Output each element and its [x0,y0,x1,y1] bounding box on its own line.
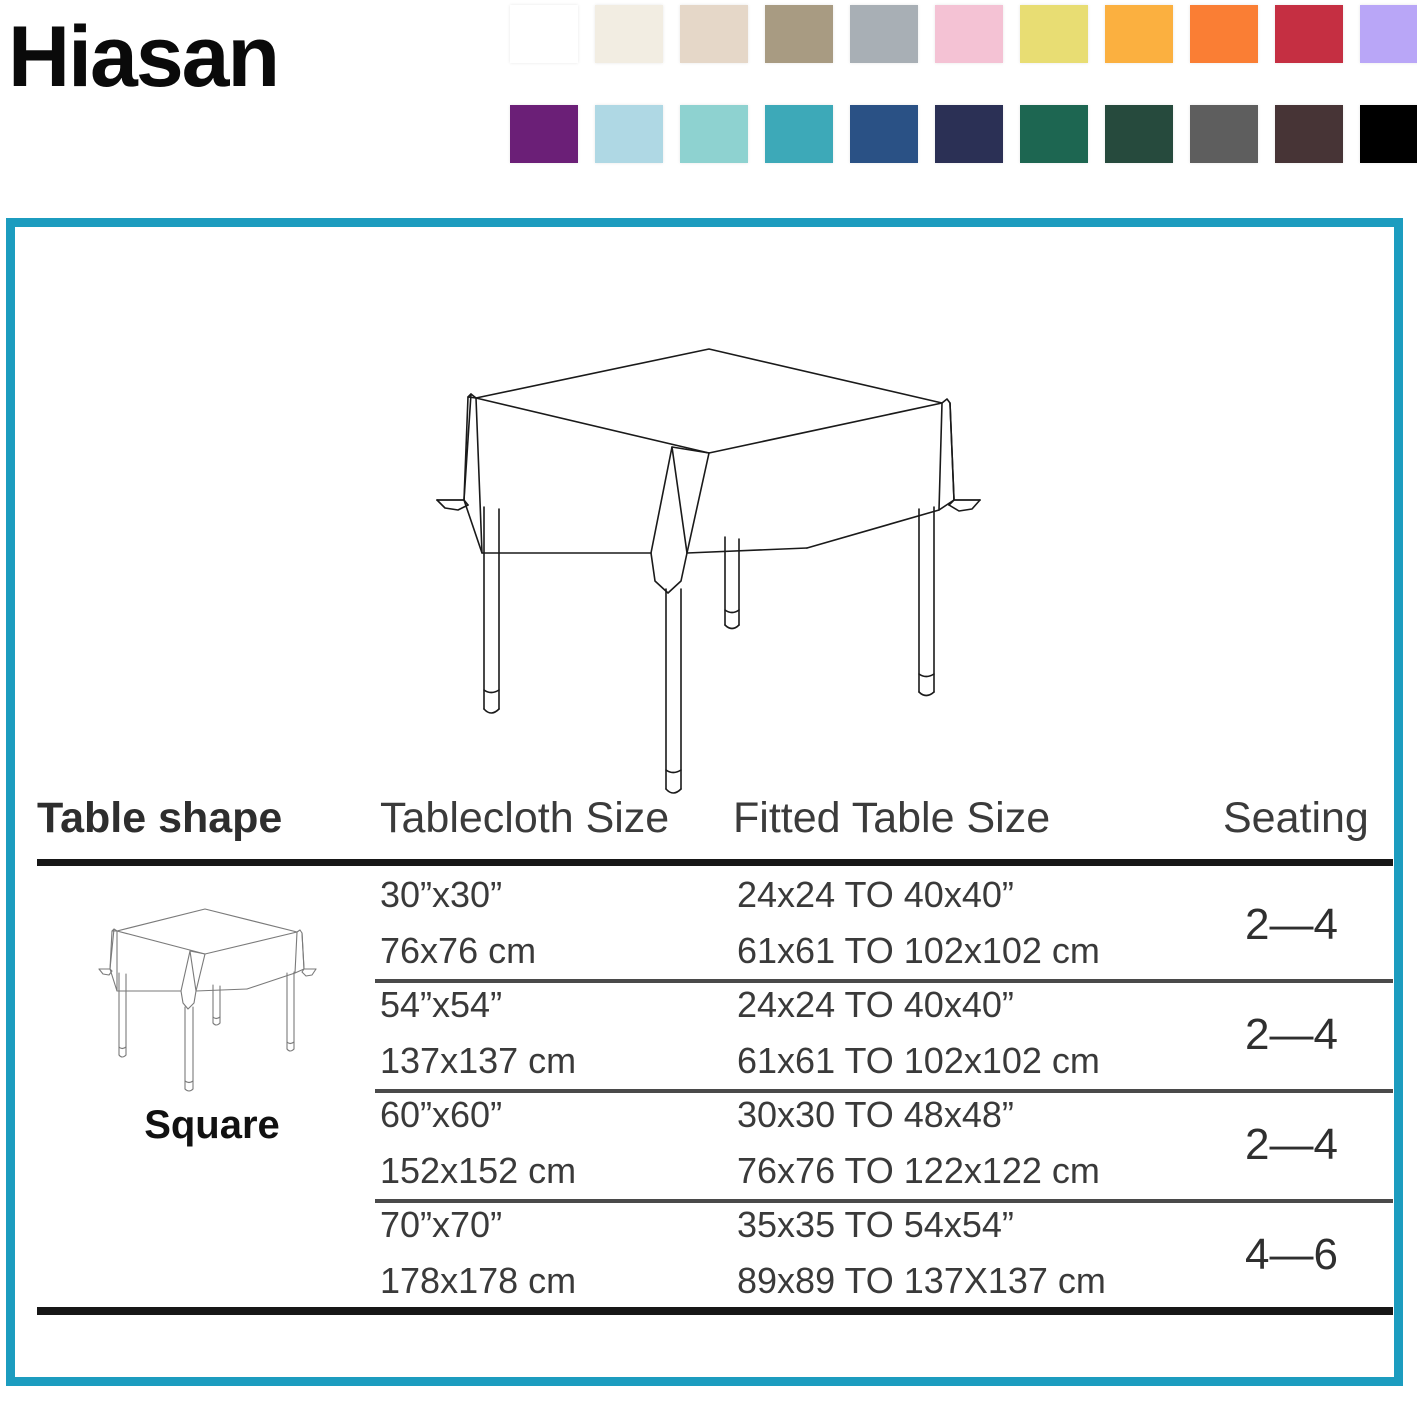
table-row: 70”x70” 178x178 cm 35x35 TO 54x54” 89x89… [15,1203,1412,1313]
color-swatch-orange[interactable] [1190,5,1258,63]
color-swatch-red[interactable] [1275,5,1343,63]
color-swatch-light-blue[interactable] [595,105,663,163]
cell-seating: 2—4 [1245,1013,1338,1057]
color-swatch-white[interactable] [510,5,578,63]
cell-tablecloth-size-cm: 152x152 cm [380,1153,576,1189]
color-swatch-pink[interactable] [935,5,1003,63]
table-row: 30”x30” 76x76 cm 24x24 TO 40x40” 61x61 T… [15,873,1412,983]
cell-fitted-size-inches: 24x24 TO 40x40” [737,877,1014,913]
color-swatch-navy[interactable] [935,105,1003,163]
cell-fitted-size-inches: 24x24 TO 40x40” [737,987,1014,1023]
column-header-fitted-table-size: Fitted Table Size [733,797,1050,840]
cell-tablecloth-size-cm: 76x76 cm [380,933,536,969]
cell-fitted-size-cm: 61x61 TO 102x102 cm [737,1043,1100,1079]
square-table-illustration [419,337,999,807]
cell-tablecloth-size-inches: 30”x30” [380,877,502,913]
size-table: Table shape Tablecloth Size Fitted Table… [15,797,1412,1342]
cell-tablecloth-size-inches: 54”x54” [380,987,502,1023]
column-header-table-shape: Table shape [37,797,282,840]
color-swatch-lavender[interactable] [1360,5,1417,63]
cell-fitted-size-inches: 35x35 TO 54x54” [737,1207,1014,1243]
color-swatch-teal[interactable] [765,105,833,163]
table-row: 60”x60” 152x152 cm 30x30 TO 48x48” 76x76… [15,1093,1412,1203]
color-swatch-gold[interactable] [1105,5,1173,63]
cell-tablecloth-size-cm: 137x137 cm [380,1043,576,1079]
color-swatch-blue[interactable] [850,105,918,163]
color-swatch-purple[interactable] [510,105,578,163]
color-swatch-dark-brown[interactable] [1275,105,1343,163]
brand-header: Hiasan [0,0,1417,200]
table-row: 54”x54” 137x137 cm 24x24 TO 40x40” 61x61… [15,983,1412,1093]
column-header-seating: Seating [1223,797,1369,840]
color-swatch-aqua[interactable] [680,105,748,163]
header-divider-rule [37,859,1393,866]
cell-seating: 2—4 [1245,903,1338,947]
color-swatch-dark-green[interactable] [1105,105,1173,163]
color-swatch-taupe[interactable] [765,5,833,63]
color-swatch-yellow[interactable] [1020,5,1088,63]
size-guide-card: Table shape Tablecloth Size Fitted Table… [6,218,1403,1386]
cell-tablecloth-size-inches: 70”x70” [380,1207,502,1243]
cell-fitted-size-inches: 30x30 TO 48x48” [737,1097,1014,1133]
table-bottom-rule [37,1307,1393,1315]
brand-logo: Hiasan [8,14,278,100]
color-swatch-gray[interactable] [850,5,918,63]
cell-tablecloth-size-inches: 60”x60” [380,1097,502,1133]
color-swatch-grid [510,5,1410,165]
swatch-row-2 [510,105,1410,165]
cell-fitted-size-cm: 89x89 TO 137X137 cm [737,1263,1106,1299]
color-swatch-ivory[interactable] [595,5,663,63]
swatch-row-1 [510,5,1410,65]
cell-fitted-size-cm: 76x76 TO 122x122 cm [737,1153,1100,1189]
cell-seating: 4—6 [1245,1233,1338,1277]
cell-tablecloth-size-cm: 178x178 cm [380,1263,576,1299]
cell-seating: 2—4 [1245,1123,1338,1167]
cell-fitted-size-cm: 61x61 TO 102x102 cm [737,933,1100,969]
color-swatch-black[interactable] [1360,105,1417,163]
table-header-row: Table shape Tablecloth Size Fitted Table… [15,797,1412,859]
color-swatch-charcoal[interactable] [1190,105,1258,163]
color-swatch-beige[interactable] [680,5,748,63]
color-swatch-green[interactable] [1020,105,1088,163]
column-header-tablecloth-size: Tablecloth Size [380,797,669,840]
